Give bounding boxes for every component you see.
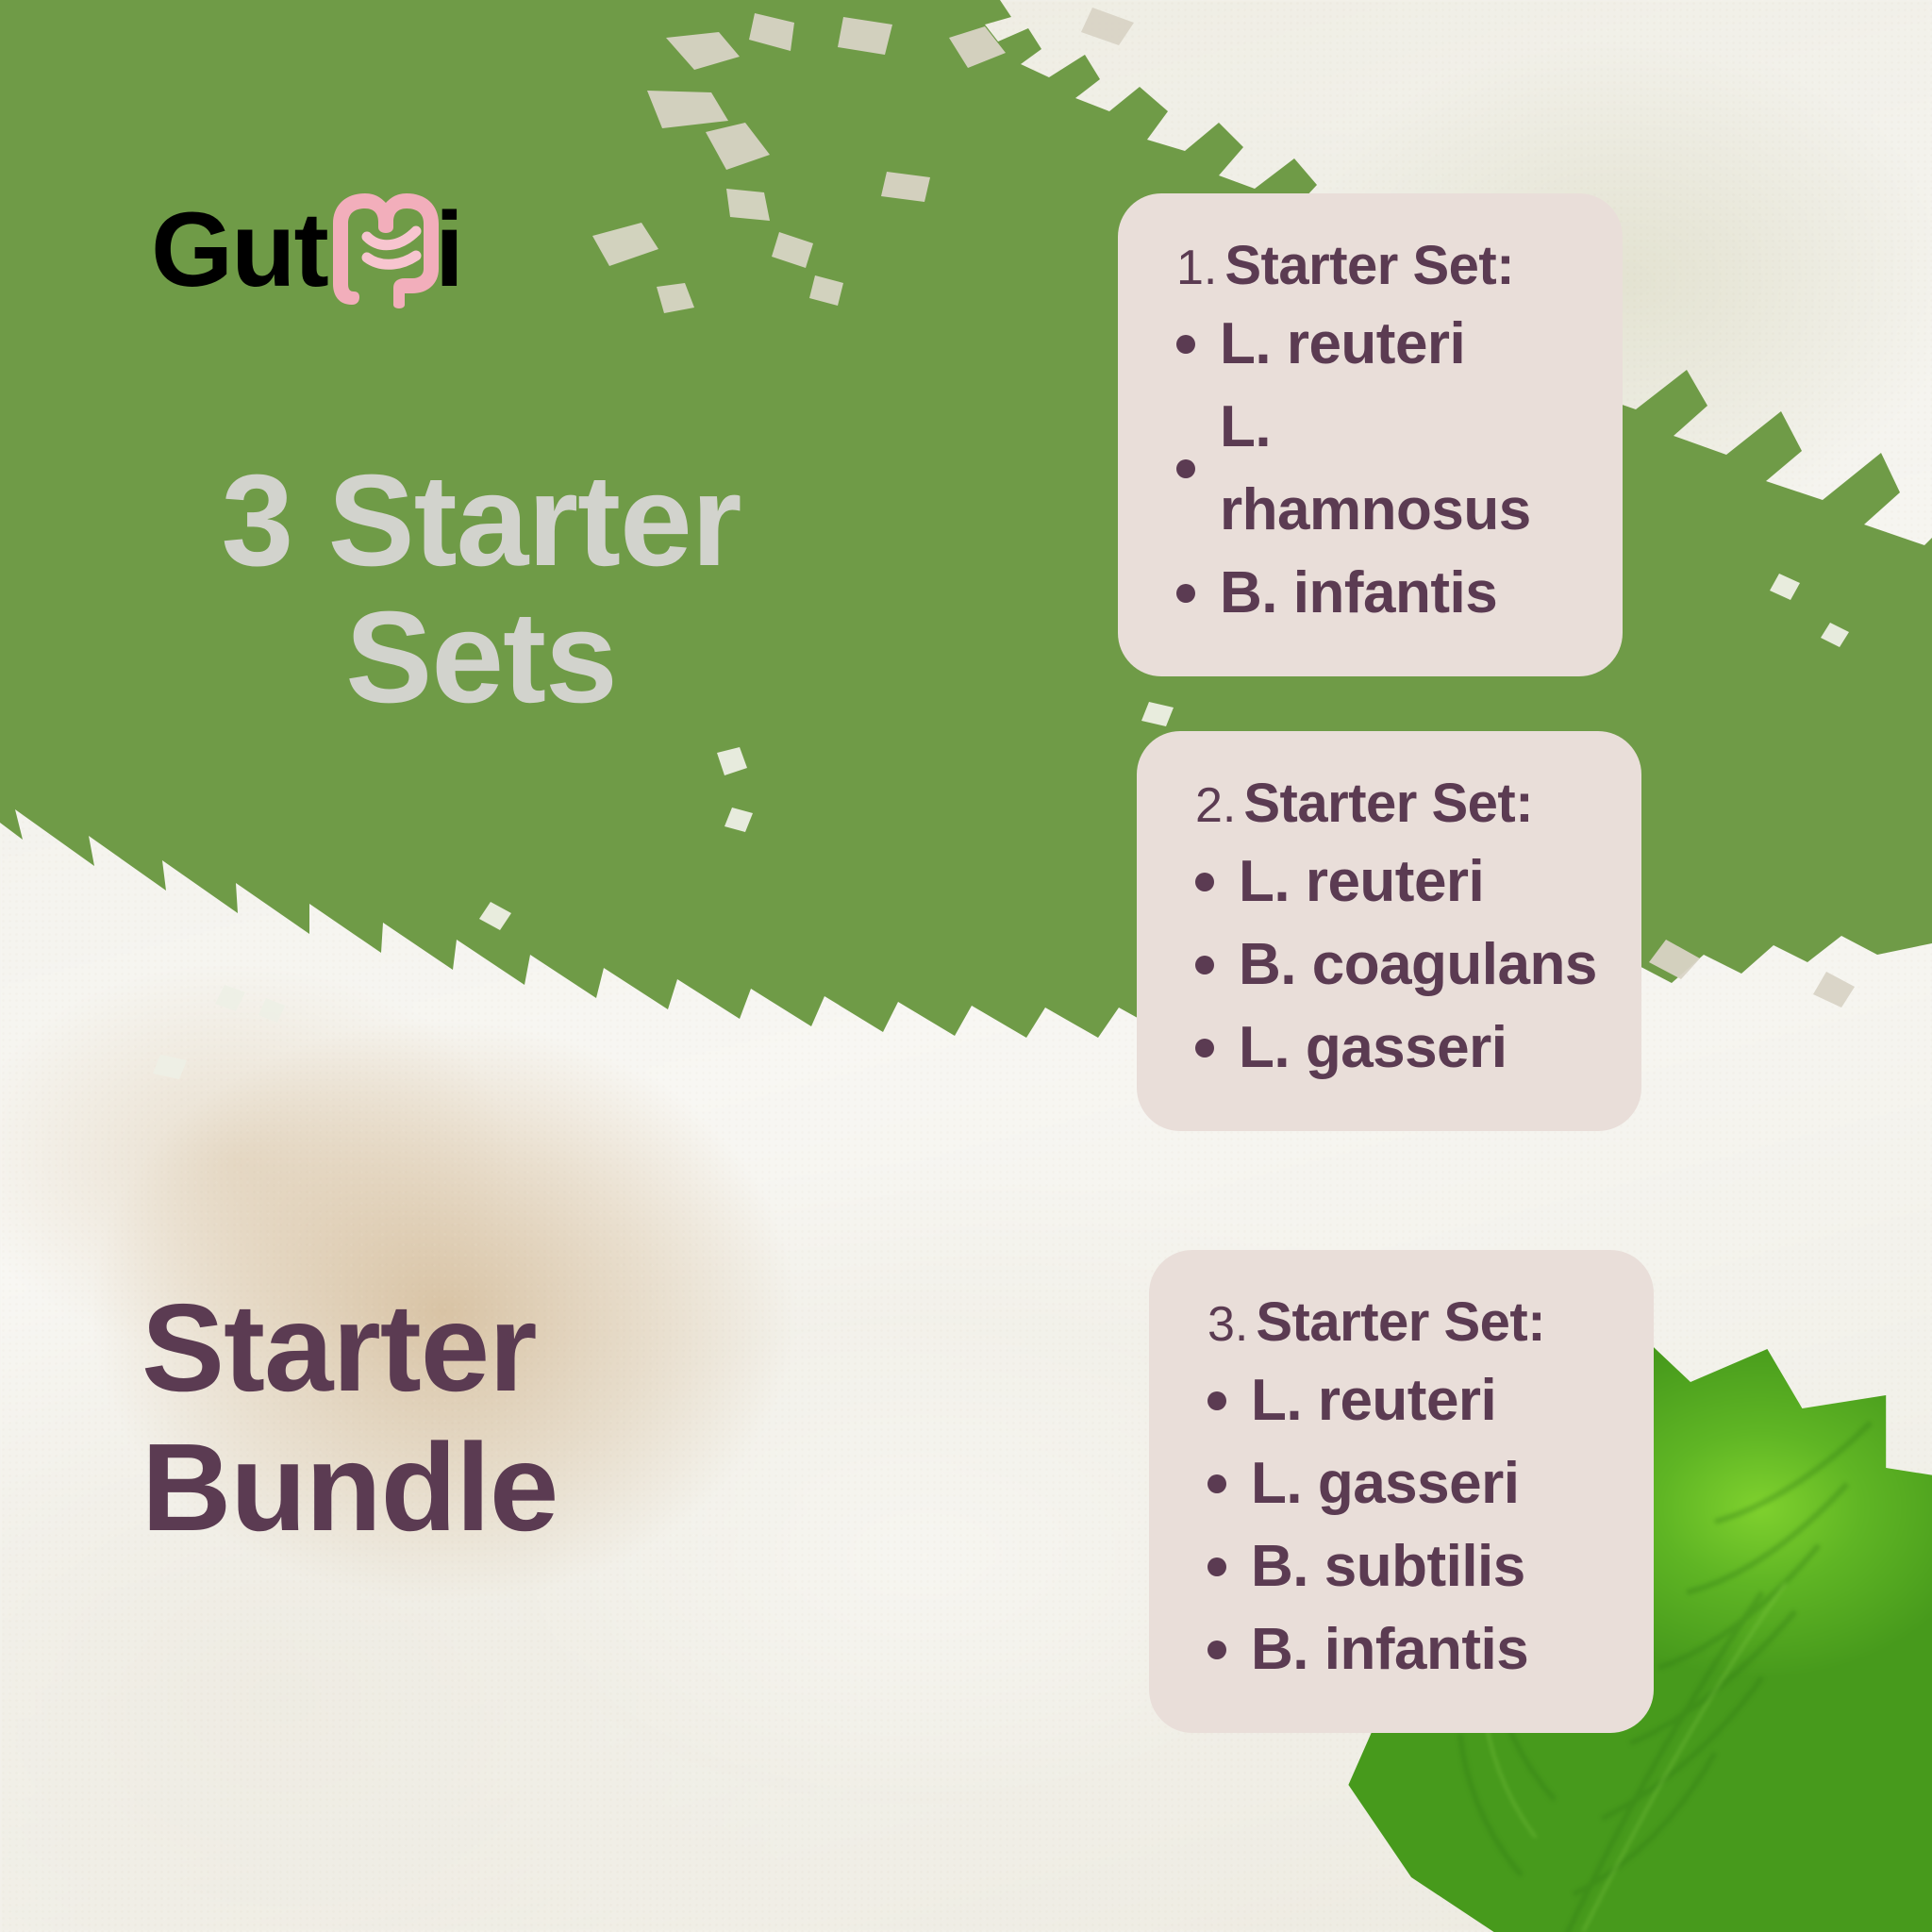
- list-item: L. reuteri: [1207, 1359, 1616, 1442]
- strain-name: B. subtilis: [1251, 1525, 1525, 1608]
- logo-text-gut: Gut: [151, 197, 327, 303]
- page-title-line2: Sets: [104, 590, 858, 726]
- list-item: L. gasseri: [1207, 1442, 1616, 1525]
- card-number: 2.: [1195, 781, 1236, 830]
- strain-list: L. reuteri L. gasseri B. subtilis B. inf…: [1207, 1359, 1616, 1691]
- bullet-icon: [1176, 335, 1195, 354]
- bullet-icon: [1195, 956, 1214, 974]
- bullet-icon: [1176, 584, 1195, 603]
- brand-logo[interactable]: Gut i: [151, 193, 462, 307]
- strain-name: L. gasseri: [1251, 1442, 1519, 1525]
- list-item: B. subtilis: [1207, 1525, 1616, 1608]
- strain-name: L. reuteri: [1220, 303, 1465, 386]
- card-number: 3.: [1207, 1300, 1248, 1349]
- strain-name: L. reuteri: [1239, 841, 1484, 924]
- bullet-icon: [1176, 459, 1195, 478]
- card-label: Starter Set:: [1224, 239, 1514, 293]
- strain-name: L. gasseri: [1239, 1007, 1507, 1090]
- logo-text-i: i: [435, 197, 462, 303]
- strain-list: L. reuteri L. rhamnosus B. infantis: [1176, 303, 1585, 635]
- bullet-icon: [1207, 1474, 1226, 1493]
- card-title: 1. Starter Set:: [1176, 239, 1585, 293]
- strain-name: L. reuteri: [1251, 1359, 1496, 1442]
- page-subtitle: Starter Bundle: [142, 1278, 858, 1557]
- list-item: L. reuteri: [1176, 303, 1585, 386]
- strain-name: B. coagulans: [1239, 924, 1597, 1007]
- list-item: L. reuteri: [1195, 841, 1604, 924]
- bullet-icon: [1207, 1391, 1226, 1410]
- starter-set-card[interactable]: 3 Pack 2. Starter Set: L. reuteri B. coa…: [1137, 731, 1641, 1131]
- strain-name: L. rhamnosus: [1220, 386, 1585, 552]
- list-item: B. infantis: [1207, 1608, 1616, 1691]
- strain-list: L. reuteri B. coagulans L. gasseri: [1195, 841, 1604, 1090]
- list-item: L. rhamnosus: [1176, 386, 1585, 552]
- card-label: Starter Set:: [1256, 1295, 1545, 1350]
- page-title-line1: 3 Starter: [222, 448, 741, 593]
- card-label: Starter Set:: [1243, 776, 1533, 831]
- starter-set-card[interactable]: 3 Pack 1. Starter Set: L. reuteri L. rha…: [1118, 193, 1623, 676]
- bullet-icon: [1207, 1641, 1226, 1659]
- intestine-icon: [329, 190, 442, 310]
- bullet-icon: [1195, 873, 1214, 891]
- strain-name: B. infantis: [1220, 552, 1497, 635]
- card-title: 3. Starter Set:: [1207, 1295, 1616, 1350]
- list-item: L. gasseri: [1195, 1007, 1604, 1090]
- bullet-icon: [1207, 1557, 1226, 1576]
- bullet-icon: [1195, 1039, 1214, 1058]
- page-subtitle-line2: Bundle: [142, 1418, 858, 1557]
- list-item: B. infantis: [1176, 552, 1585, 635]
- starter-set-card[interactable]: 3 Pack 3. Starter Set: L. reuteri L. gas…: [1149, 1250, 1654, 1733]
- strain-name: B. infantis: [1251, 1608, 1528, 1691]
- card-number: 1.: [1176, 243, 1217, 292]
- page-subtitle-line1: Starter: [142, 1278, 537, 1417]
- list-item: B. coagulans: [1195, 924, 1604, 1007]
- page-title: 3 Starter Sets: [104, 453, 858, 726]
- card-title: 2. Starter Set:: [1195, 776, 1604, 831]
